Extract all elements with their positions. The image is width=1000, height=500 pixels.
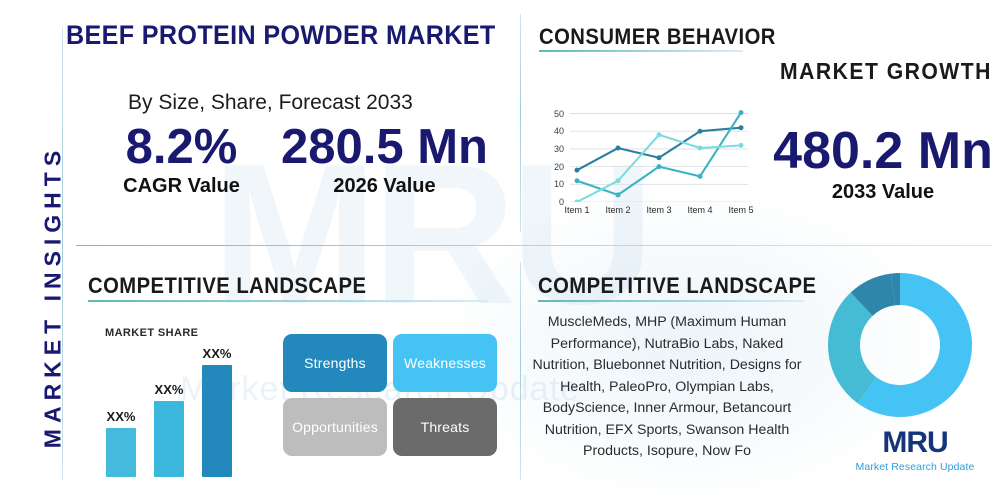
stat-2026-label: 2026 Value xyxy=(272,175,497,198)
stat-2033-value: 480.2 Mn xyxy=(770,124,996,179)
market-share-bar xyxy=(154,401,184,477)
competitive-landscape-left-heading: COMPETITIVE LANDSCAPE xyxy=(88,273,366,299)
brand-logo-mark: MRU xyxy=(845,428,985,458)
market-share-bar xyxy=(106,428,136,477)
horizontal-divider xyxy=(76,245,992,246)
company-list: MuscleMeds, MHP (Maximum Human Performan… xyxy=(522,312,812,463)
swot-strengths[interactable]: Strengths xyxy=(283,334,387,392)
consumer-behavior-line-chart: 01020304050 Item 1Item 2Item 3Item 4Item… xyxy=(548,106,762,218)
market-share-bar-chart: XX%XX%XX% xyxy=(104,345,254,477)
competitive-landscape-right-heading: COMPETITIVE LANDSCAPE xyxy=(538,273,816,299)
stat-2026: 280.5 Mn 2026 Value xyxy=(272,122,497,198)
top-center-divider xyxy=(520,14,521,232)
market-share-donut-chart xyxy=(825,270,975,420)
line-chart-y-tick: 10 xyxy=(548,179,564,189)
brand-logo: MRU Market Research Update xyxy=(845,428,985,473)
line-chart-x-tick: Item 1 xyxy=(564,205,589,215)
sidebar-vertical-label: MARKET INSIGHTS xyxy=(40,132,67,462)
swot-opportunities-label: Opportunities xyxy=(292,419,378,435)
consumer-behavior-heading-rule xyxy=(539,50,743,52)
line-chart-y-tick: 40 xyxy=(548,126,564,136)
swot-strengths-label: Strengths xyxy=(304,355,366,371)
swot-weaknesses[interactable]: Weaknesses xyxy=(393,334,497,392)
brand-logo-subtitle: Market Research Update xyxy=(845,461,985,473)
infographic-canvas: MRU Market Research Update MARKET INSIGH… xyxy=(0,0,1000,500)
market-share-bar xyxy=(202,365,232,477)
swot-threats[interactable]: Threats xyxy=(393,398,497,456)
bottom-center-divider xyxy=(520,262,521,480)
swot-threats-label: Threats xyxy=(421,419,470,435)
consumer-behavior-heading: CONSUMER BEHAVIOR xyxy=(539,24,776,50)
line-chart-x-tick: Item 5 xyxy=(728,205,753,215)
line-chart-y-tick: 20 xyxy=(548,162,564,172)
line-chart-x-tick: Item 3 xyxy=(646,205,671,215)
line-chart-x-tick: Item 2 xyxy=(605,205,630,215)
line-chart-x-tick: Item 4 xyxy=(687,205,712,215)
line-chart-plot xyxy=(570,110,748,202)
line-chart-y-tick: 50 xyxy=(548,109,564,119)
stat-cagr: 8.2% CAGR Value xyxy=(104,122,259,198)
stat-cagr-label: CAGR Value xyxy=(104,175,259,198)
market-share-bar-label: XX% xyxy=(155,382,184,397)
competitive-landscape-left-rule xyxy=(88,300,488,302)
stat-2026-value: 280.5 Mn xyxy=(272,122,497,173)
market-share-bar-label: XX% xyxy=(107,409,136,424)
stat-2033-label: 2033 Value xyxy=(770,181,996,204)
page-title: BEEF PROTEIN POWDER MARKET xyxy=(66,20,496,51)
market-share-title: MARKET SHARE xyxy=(105,327,198,339)
competitive-landscape-right-rule xyxy=(538,300,804,302)
market-growth-heading: MARKET GROWTH xyxy=(780,58,992,85)
line-chart-y-tick: 30 xyxy=(548,144,564,154)
market-share-bar-label: XX% xyxy=(203,346,232,361)
stat-cagr-value: 8.2% xyxy=(104,122,259,173)
stat-2033: 480.2 Mn 2033 Value xyxy=(770,124,996,204)
line-chart-y-tick: 0 xyxy=(548,197,564,207)
swot-opportunities[interactable]: Opportunities xyxy=(283,398,387,456)
swot-weaknesses-label: Weaknesses xyxy=(404,355,486,371)
page-subtitle: By Size, Share, Forecast 2033 xyxy=(128,91,413,115)
